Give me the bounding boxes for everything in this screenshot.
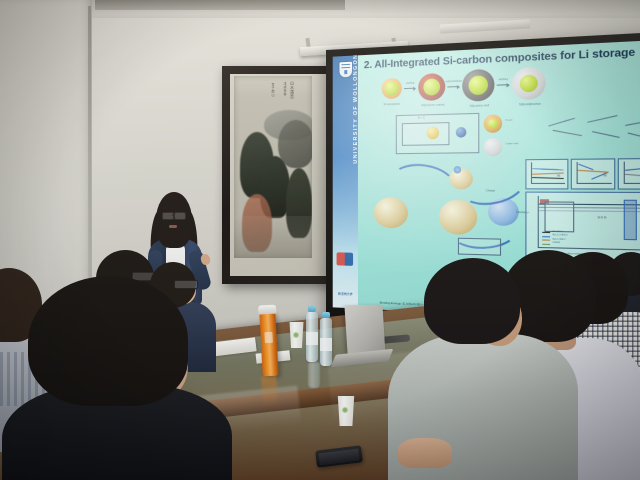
- slide-arrow-3: [497, 84, 509, 86]
- phone-screen: [318, 448, 359, 465]
- presenter-mouth: [169, 225, 177, 228]
- chart-panel-c: (c): [618, 158, 640, 190]
- slide-legend-label-core: Si core: [505, 119, 512, 121]
- slide-title: 2. All-Integrated Si-carbon composites f…: [364, 45, 640, 71]
- slide-legend-sphere-shell: [484, 138, 503, 156]
- slide-cycle-label-charge: Charge: [486, 189, 495, 192]
- audience-hand: [398, 438, 452, 468]
- audience-foreground-center: [28, 276, 208, 480]
- chart-annotation: Si-O-Si: [598, 217, 607, 219]
- slide-sphere-caption-3: Si@carbon shell: [456, 104, 503, 109]
- slide-arrow-label-2: carbonization: [443, 79, 464, 83]
- slide-sphere-caption-2: Si@polymer coating: [410, 103, 456, 108]
- slide-cycle-cluster-left: [374, 197, 408, 228]
- slide-arrow-1: [404, 88, 415, 89]
- calligraphy-tertiary: 写于南山: [270, 83, 275, 109]
- chart-ylabel: Transmittance (a.u.): [525, 212, 527, 231]
- slide-cycle-liion-top: [454, 166, 461, 173]
- presenter-glasses-right-lens: [174, 212, 186, 220]
- calligraphy-secondary: 戊戌年春: [282, 82, 287, 112]
- slide-branding-rail: UNIVERSITY OF WOLLONGONG AUSTRALIA 卧龙岗大学: [333, 55, 358, 308]
- chart-panel-b: (b): [571, 158, 616, 189]
- presenter-glasses-left-lens: [162, 212, 174, 220]
- slide-arrow-label-3: etching: [493, 78, 513, 82]
- thermos-cap: [258, 305, 276, 315]
- slide-sphere-2: [418, 73, 445, 101]
- slide-legend-label-shell: Carbon shell: [505, 143, 518, 145]
- chart-highlight-band: [624, 200, 637, 241]
- painting-artwork: 山水清音 戊戌年春 写于南山: [234, 76, 312, 258]
- chart-legend-1: SiC 700 C: [552, 230, 563, 232]
- slide-molecule-group: [546, 106, 640, 155]
- slide-arrow-label-1: coating: [402, 81, 418, 85]
- chart-legend-3: SiC-C 900 C: [552, 238, 565, 240]
- chart-inset-box: [544, 201, 574, 232]
- slide-cycle-inset: [458, 238, 501, 256]
- chart-legend-2: SiC-C-1 800 C: [552, 234, 567, 236]
- slide-sphere-caption-4: Si@void@carbon: [505, 102, 554, 107]
- chart-panel-a-tag: (a): [557, 175, 560, 177]
- slide-org-name: UNIVERSITY OF WOLLONGONG AUSTRALIA: [353, 42, 359, 164]
- slide-sphere-3: [462, 69, 494, 102]
- chart-panel-a: (a): [525, 159, 568, 190]
- conference-room-photo: 山水清音 戊戌年春 写于南山 UNIVERSITY OF: [0, 0, 640, 480]
- partner-logo-icon: [337, 252, 354, 266]
- thermos-label: [264, 332, 273, 343]
- painting-foreground: [234, 216, 312, 258]
- slide-org-name-cn: 卧龙岗大学: [335, 291, 356, 296]
- slide-sphere-4: [512, 66, 546, 100]
- water-bottle-2[interactable]: [320, 318, 332, 366]
- water-bottle-1[interactable]: [306, 312, 318, 362]
- slide-sphere-caption-1: Si nanoparticle: [372, 102, 412, 106]
- audience-foreground-center-hair: [28, 276, 188, 406]
- presenter-hair: [156, 192, 192, 248]
- chart-panel-b-tag: (b): [603, 175, 606, 177]
- audience-hand-holding-cup: [398, 420, 454, 470]
- chart-legend-4: C/SiO2: [552, 242, 560, 244]
- audience-right-1-hair: [424, 258, 520, 344]
- wall-corner: [88, 6, 91, 306]
- slide-legend-sphere-core: [484, 114, 503, 133]
- orange-thermos[interactable]: [259, 312, 278, 377]
- uow-crest-icon: [338, 61, 353, 79]
- slide-arrow-2: [447, 86, 459, 87]
- water-bottle-reflection: [308, 362, 320, 388]
- presenter-glasses-bridge: [172, 215, 175, 216]
- slide-sphere-1: [382, 78, 402, 99]
- ceiling-beam: [95, 0, 345, 10]
- thermos-reflection: [261, 376, 278, 407]
